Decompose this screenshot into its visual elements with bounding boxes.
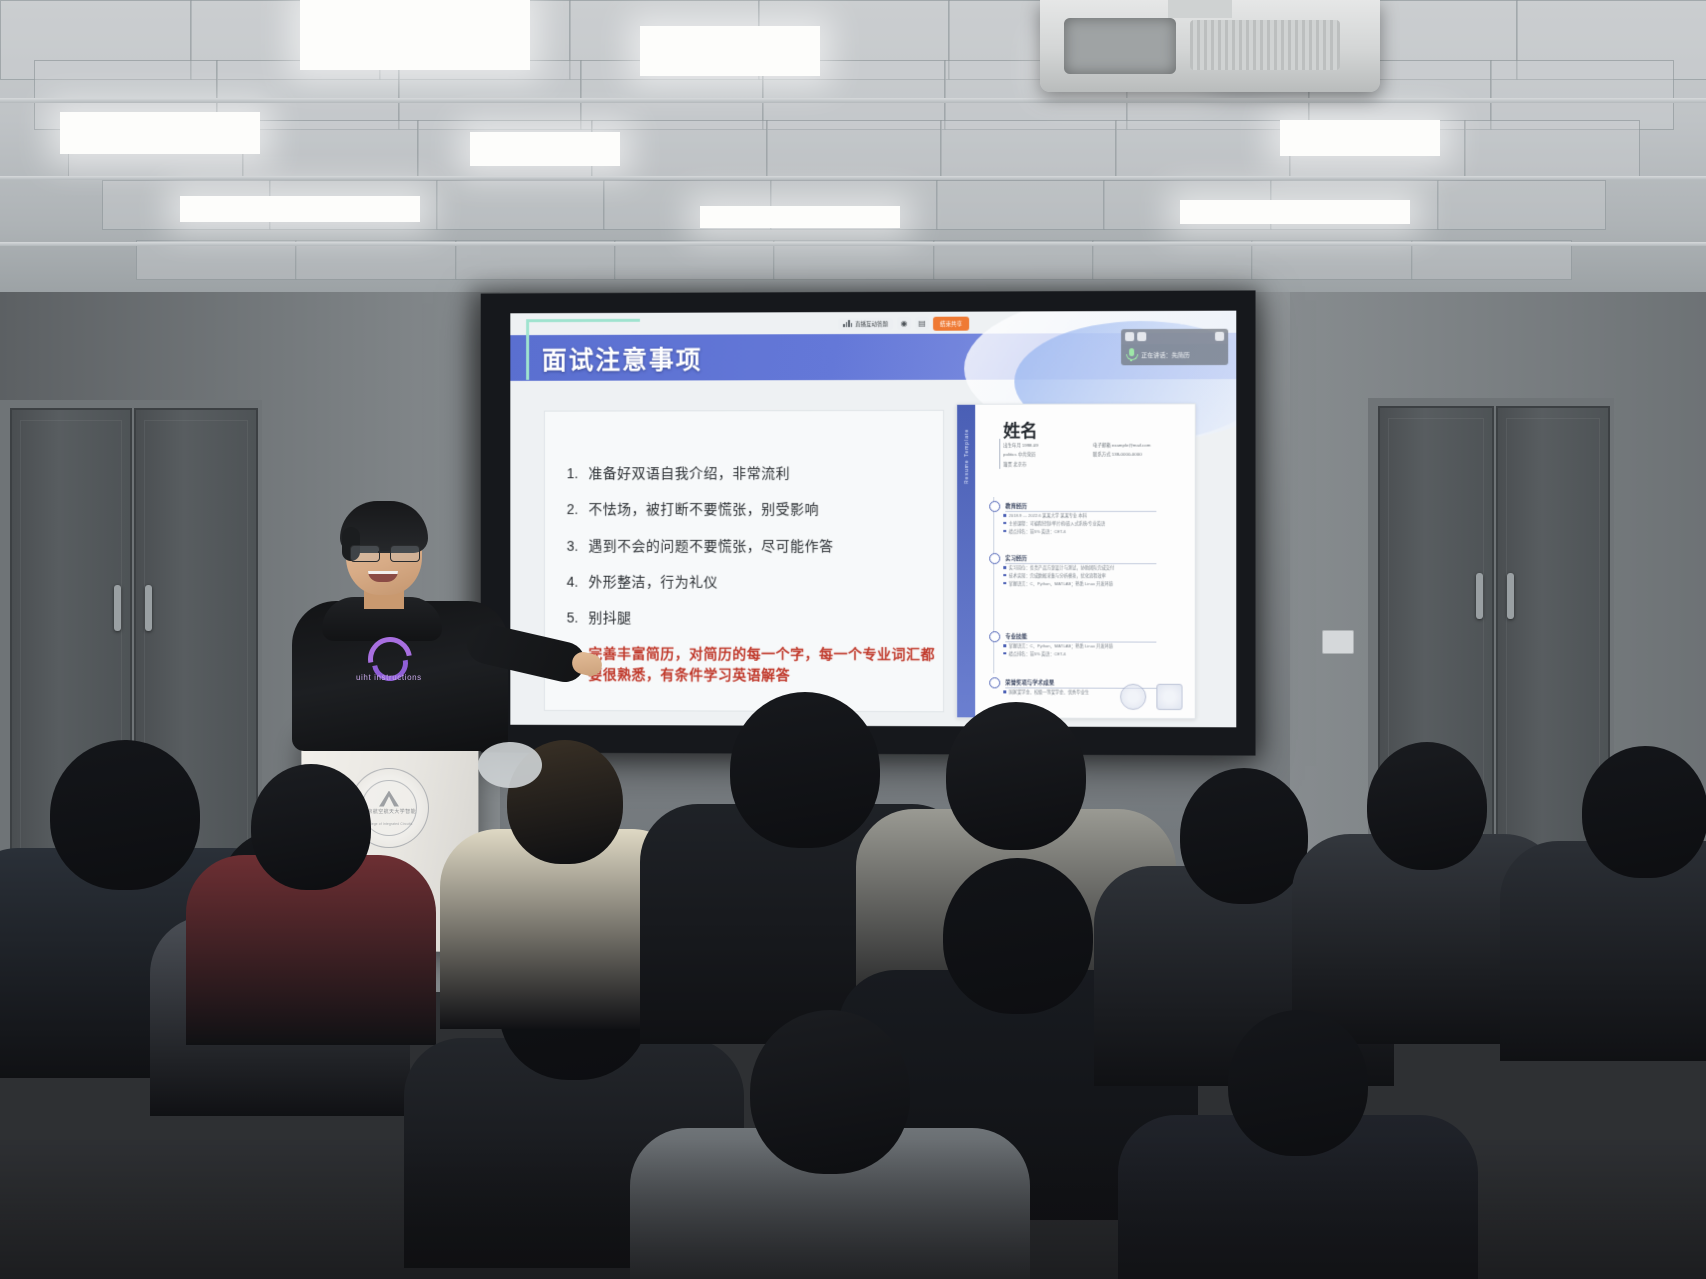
star-icon (989, 631, 1000, 642)
resume-spine: Resume Template (957, 405, 975, 718)
ceiling: EPSON (0, 0, 1706, 300)
ceiling-tile (773, 240, 934, 280)
resume-section-title: 专业技能 (1005, 632, 1156, 642)
bullet-dot-icon (1003, 582, 1006, 585)
projector-lens (1064, 18, 1176, 74)
bullet-text: 别抖腿 (588, 608, 631, 628)
slide-title: 面试注意事项 (542, 341, 703, 377)
briefcase-icon (989, 553, 1000, 564)
bullet-dot-icon (1003, 530, 1006, 533)
resume-section-header: 实习经历 (989, 553, 1191, 564)
resume-line-text: 掌握语言：C、Python、MATLAB；熟悉 Linux 开发环境 (1009, 642, 1113, 650)
hair-scrunchie (478, 742, 542, 788)
audience-head (750, 1010, 910, 1174)
bullet-text: 遇到不会的问题不要慌张，尽可能作答 (588, 536, 833, 556)
ceiling-tile (242, 120, 418, 180)
end-share-button[interactable]: 结束共享 (933, 316, 969, 330)
resume-section-title: 教育经历 (1005, 501, 1156, 511)
mic-panel-body: 正在讲话：先简历 (1121, 344, 1228, 365)
resume-meta-cell: 出生年月 1998.09 (1003, 441, 1093, 450)
audience-shoulders (1500, 841, 1706, 1061)
resume-meta-list: 出生年月 1998.09电子邮箱 example@mail.compolitic… (1003, 441, 1182, 469)
audience (0, 680, 1706, 1279)
presentation-slide: 面试注意事项 直播互动答题 ◉ ▤ 结束共享 (510, 311, 1236, 728)
ceiling-tile (295, 240, 456, 280)
volume-icon[interactable]: ◉ (897, 317, 911, 330)
resume-body-line: 绩点排名：前5% 英语：CET-6 (1003, 528, 1190, 536)
ceiling-beam (0, 98, 1706, 103)
resume-body-line: 实习岗位：负责产品方案设计与测试，协助团队完成交付 (1003, 564, 1190, 572)
resume-body-line: 主修课程：可编程控制/单片机/嵌入式系统/专业英语 (1003, 520, 1190, 528)
presenter-glasses (348, 545, 420, 560)
door-handle-icon (114, 585, 121, 631)
audience-head (251, 764, 371, 890)
audience-head (1367, 742, 1487, 870)
bullet-dot-icon (1003, 514, 1006, 517)
ceiling-tile (455, 240, 616, 280)
resume-meta-cell: 籍贯 北京市 (1003, 459, 1093, 468)
audience-head (1180, 768, 1308, 904)
slide-bullet: 4.外形整洁，行为礼仪 (567, 572, 935, 593)
mic-floating-panel[interactable]: 正在讲话：先简历 (1121, 329, 1228, 366)
resume-meta-cell: 联系方式 138-0000-0000 (1093, 450, 1183, 459)
ceiling-tile (933, 240, 1094, 280)
audience-member (630, 1010, 1030, 1279)
slide-bullet: 1.准备好双语自我介绍，非常流利 (567, 463, 935, 484)
resume-line-text: 掌握语言：C、Python、MATLAB；熟悉 Linux 开发环境 (1009, 580, 1113, 588)
mic-panel-titlebar[interactable] (1121, 329, 1228, 344)
resume-line-text: 技术实现：完成数据采集与分析模块，优化流程效率 (1009, 572, 1106, 580)
resume-body-line: 绩点排名：前5% 英语：CET-6 (1003, 650, 1190, 658)
audience-head (1228, 1010, 1368, 1156)
resume-line-text: 绩点排名：前5% 英语：CET-6 (1009, 650, 1066, 658)
lecture-room-scene: EPSON (0, 0, 1706, 1279)
resume-meta-row: 出生年月 1998.09电子邮箱 example@mail.com (1003, 441, 1182, 451)
ceiling-light (60, 112, 260, 154)
audience-member (1118, 1010, 1478, 1279)
audience-head (943, 858, 1093, 1014)
stream-status-pill: 直播互动答题 (838, 317, 893, 329)
audience-member (1500, 746, 1706, 1098)
ceiling-tile (614, 240, 775, 280)
bullet-dot-icon (1003, 574, 1006, 577)
resume-name-rule (999, 439, 1000, 469)
resume-spine-label: Resume Template (964, 420, 970, 484)
ceiling-light (180, 196, 420, 222)
home-icon[interactable] (1125, 332, 1134, 341)
ceiling-beam (0, 176, 1706, 180)
ceiling-tile (1411, 240, 1572, 280)
audience-head (946, 702, 1086, 850)
resume-meta-cell: politics 中共党员 (1003, 450, 1093, 459)
resume-line-text: 绩点排名：前5% 英语：CET-6 (1009, 528, 1066, 536)
resume-line-text: 实习岗位：负责产品方案设计与测试，协助团队完成交付 (1009, 564, 1114, 572)
projector-vent (1190, 20, 1340, 70)
swirl-logo-icon: uiht instructions (360, 637, 412, 683)
ceiling-light (1280, 120, 1440, 156)
bullet-dot-icon (1003, 644, 1006, 647)
bullet-dot-icon (1003, 522, 1006, 525)
ceiling-tile (1251, 240, 1412, 280)
resume-section-header: 教育经历 (989, 501, 1191, 512)
resume-meta-cell: 电子邮箱 example@mail.com (1093, 441, 1183, 450)
ceiling-light (1180, 200, 1410, 224)
ceiling-light (700, 206, 900, 228)
ceiling-tile (936, 180, 1105, 230)
wall-switch-plate[interactable] (1322, 630, 1354, 654)
graduation-cap-icon (989, 501, 1000, 512)
ceiling-tile (436, 180, 605, 230)
resume-body-line: 技术实现：完成数据采集与分析模块，优化流程效率 (1003, 572, 1190, 580)
audience-head (1582, 746, 1706, 878)
resume-name: 姓名 (1003, 417, 1037, 442)
door-handle-icon (1507, 573, 1514, 619)
slide-bullet: 2.不怯场，被打断不要慌张，别受影响 (567, 499, 935, 519)
signal-wave-icon (843, 320, 852, 327)
ceiling-tile (1115, 120, 1291, 180)
ceiling-light (300, 0, 530, 70)
ceiling-tile (1092, 240, 1253, 280)
bullet-text: 准备好双语自我介绍，非常流利 (588, 463, 790, 483)
ceiling-beam (0, 242, 1706, 246)
ceiling-tile (940, 120, 1116, 180)
bullet-dot-icon (1003, 566, 1006, 569)
mic-panel-icons[interactable] (1125, 332, 1146, 341)
audience-member (186, 764, 436, 1080)
ceiling-tile (1437, 180, 1606, 230)
ceiling-light (470, 132, 620, 166)
resume-section-title: 实习经历 (1005, 554, 1156, 564)
resume-section: 教育经历2018.9 — 2022.6 某某大学 某某专业 本科主修课程：可编程… (989, 501, 1191, 536)
stream-label: 直播互动答题 (855, 319, 888, 327)
bullet-number: 1. (567, 463, 589, 483)
resume-section: 专业技能掌握语言：C、Python、MATLAB；熟悉 Linux 开发环境绩点… (989, 631, 1191, 659)
bullet-list: 1.准备好双语自我介绍，非常流利2.不怯场，被打断不要慌张，别受影响3.遇到不会… (567, 463, 935, 701)
resume-meta-row: politics 中共党员联系方式 138-0000-0000 (1003, 450, 1182, 460)
resume-section-header: 专业技能 (989, 631, 1191, 642)
ceiling-tile-grid (0, 0, 1706, 300)
resume-meta-cell (1093, 459, 1183, 468)
microphone-icon[interactable] (1126, 348, 1136, 361)
list-icon[interactable] (1137, 332, 1146, 341)
minimize-icon[interactable] (1215, 332, 1224, 341)
bullet-dot-icon (1003, 652, 1006, 655)
slide-bullet: 5.别抖腿 (567, 608, 935, 629)
mic-status-text: 正在讲话：先简历 (1141, 350, 1190, 359)
resume-body-line: 2018.9 — 2022.6 某某大学 某某专业 本科 (1003, 512, 1190, 520)
resume-section: 实习经历实习岗位：负责产品方案设计与测试，协助团队完成交付技术实现：完成数据采集… (989, 553, 1191, 588)
ceiling-tile (766, 120, 942, 180)
bullet-text: 外形整洁，行为礼仪 (588, 572, 717, 592)
projector-mount (1168, 0, 1232, 18)
slide-bullet: 3.遇到不会的问题不要慌张，尽可能作答 (567, 536, 935, 556)
webcast-toolbar[interactable]: 直播互动答题 ◉ ▤ 结束共享 (838, 316, 969, 331)
ceiling-tile (136, 240, 297, 280)
layout-icon[interactable]: ▤ (915, 317, 929, 330)
door-handle-icon (1476, 573, 1483, 619)
resume-preview-panel: Resume Template 姓名 出生年月 1998.09电子邮箱 exam… (956, 403, 1196, 719)
resume-line-text: 2018.9 — 2022.6 某某大学 某某专业 本科 (1009, 512, 1087, 520)
bullet-text: 不怯场，被打断不要慌张，别受影响 (588, 499, 819, 519)
bullet-card: 1.准备好双语自我介绍，非常流利2.不怯场，被打断不要慌张，别受影响3.遇到不会… (544, 410, 944, 712)
ceiling-light (640, 26, 820, 76)
resume-line-text: 主修课程：可编程控制/单片机/嵌入式系统/专业英语 (1009, 520, 1105, 528)
door-handle-icon (145, 585, 152, 631)
resume-body-line: 掌握语言：C、Python、MATLAB；熟悉 Linux 开发环境 (1003, 580, 1190, 588)
resume-meta-row: 籍贯 北京市 (1003, 459, 1182, 468)
ceiling-tile (1464, 120, 1640, 180)
